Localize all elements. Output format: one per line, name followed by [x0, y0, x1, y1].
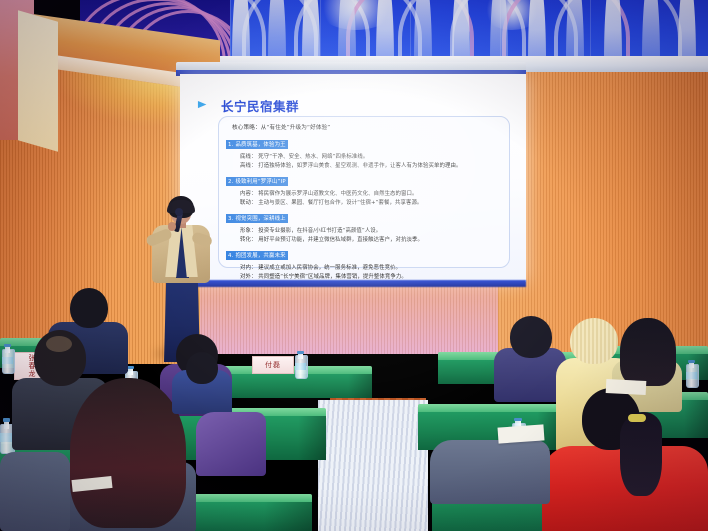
slide-section-heading: 4. 抱团发展，共赢未来 — [226, 251, 288, 260]
presentation-slide: 长宁民宿集群 核心策略：从“有住处”升级为“好体验” 1. 品质筑基，体验为王 … — [180, 74, 526, 282]
water-bottle — [295, 351, 306, 379]
slide-section-item: 内容： 将民宿作为展示罗浮山道教文化、中医药文化、自然生态的窗口。 — [240, 189, 502, 197]
slide-section-heading: 1. 品质筑基，体验为王 — [226, 140, 288, 149]
slide-section-item: 底线： 死守“干净、安全、热水、网络”四条标准线。 — [240, 152, 502, 160]
slide-section-item: 对内： 建议成立或加入民宿协会，统一服务标准，避免恶性竞价。 — [240, 263, 502, 271]
notebook-paper — [497, 424, 544, 443]
slide-section-item: 对外： 共同塑造“长宁美宿”区域品牌，集体营销，提升整体竞争力。 — [240, 272, 502, 280]
slide-section-item: 联动： 主动与景区、果园、餐厅打包合作，设计“住宿+”套餐，共享客源。 — [240, 198, 502, 206]
slide-title-row: 长宁民宿集群 — [196, 96, 299, 115]
attendee-red-coat-ponytail — [542, 388, 708, 531]
left-edge-cream-strip — [18, 10, 58, 151]
slide-body: 核心策略：从“有住处”升级为“好体验” 1. 品质筑基，体验为王 底线： 死守“… — [218, 116, 510, 268]
projection-screen-bottom-bar — [180, 280, 526, 287]
slide-section: 1. 品质筑基，体验为王 底线： 死守“干净、安全、热水、网络”四条标准线。 高… — [226, 133, 502, 169]
slide-section-item: 转化： 用好平台预订功能，并建立微信私域群，直接触达客户，对抗淡季。 — [240, 235, 502, 243]
presenter-hand — [168, 222, 176, 231]
slide-section-heading: 2. 极致利用“罗浮山”IP — [226, 177, 288, 186]
notebook-paper — [606, 379, 647, 395]
name-card: 付磊 — [252, 356, 294, 374]
slide-section: 3. 视觉突围，深耕线上 形象： 投资专业摄影，在抖音/小红书打造“高颜值”人设… — [226, 207, 502, 243]
slide-section-item: 形象： 投资专业摄影，在抖音/小红书打造“高颜值”人设。 — [240, 226, 502, 234]
microphone-head — [175, 208, 183, 216]
attendee-purple-coat-near — [196, 404, 266, 474]
floor-aisle — [318, 400, 428, 531]
projection-screen: 长宁民宿集群 核心策略：从“有住处”升级为“好体验” 1. 品质筑基，体验为王 … — [180, 74, 526, 282]
conference-room-screenshot: 长宁民宿集群 核心策略：从“有住处”升级为“好体验” 1. 品质筑基，体验为王 … — [0, 0, 708, 531]
slide-section: 2. 极致利用“罗浮山”IP 内容： 将民宿作为展示罗浮山道教文化、中医药文化、… — [226, 170, 502, 206]
play-flag-icon — [196, 99, 209, 112]
attendee-blue-jacket — [172, 352, 232, 408]
attendee-grey-bottom-left — [0, 452, 70, 531]
slide-title: 长宁民宿集群 — [221, 96, 299, 115]
slide-section-item: 高线： 打造独特体验，如罗浮山美食、星空观测、非遗手作，让客人有为体验买单的理由… — [240, 161, 502, 169]
slide-section-heading: 3. 视觉突围，深耕线上 — [226, 214, 288, 223]
slide-lead-text: 核心策略：从“有住处”升级为“好体验” — [232, 123, 502, 131]
slide-section: 4. 抱团发展，共赢未来 对内： 建议成立或加入民宿协会，统一服务标准，避免恶性… — [226, 244, 502, 280]
water-bottle — [686, 360, 697, 388]
